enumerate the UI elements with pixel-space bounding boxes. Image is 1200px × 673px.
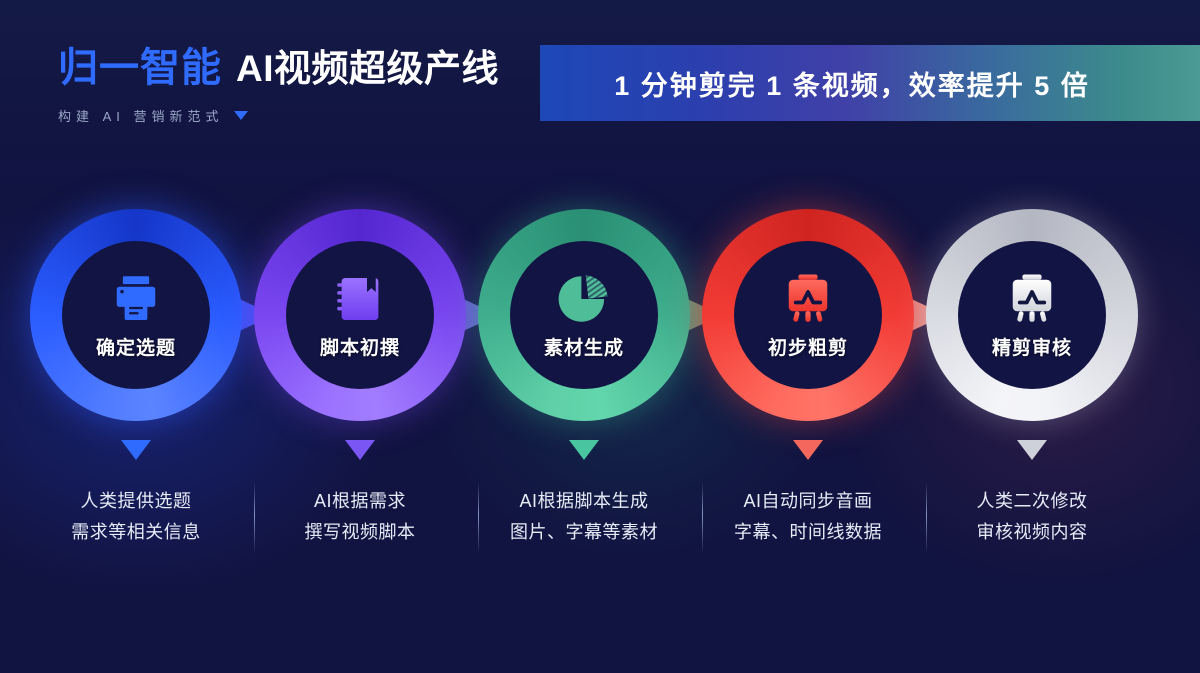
caption-1-arrow-icon <box>121 440 151 460</box>
step-4-content: 初步粗剪 <box>734 241 882 389</box>
caption-4: AI自动同步音画 字幕、时间线数据 <box>702 440 914 548</box>
step-2[interactable]: 脚本初撰 <box>254 209 466 421</box>
caption-4-line-2: 字幕、时间线数据 <box>734 517 882 548</box>
caption-2: AI根据需求 撰写视频脚本 <box>254 440 466 548</box>
step-4[interactable]: 初步粗剪 <box>702 209 914 421</box>
caption-5-arrow-icon <box>1017 440 1047 460</box>
pipeline: 确定选题 <box>0 205 1200 435</box>
step-circles: 确定选题 <box>0 205 1200 435</box>
subtitle: 构建 AI 营销新范式 <box>58 106 224 125</box>
caption-5-line-1: 人类二次修改 <box>977 486 1088 517</box>
presentation-board-icon <box>1004 271 1060 327</box>
step-5[interactable]: 精剪审核 <box>926 209 1138 421</box>
captions-row: 人类提供选题 需求等相关信息 AI根据需求 撰写视频脚本 AI根据脚本生成 图片… <box>0 440 1200 580</box>
step-5-content: 精剪审核 <box>958 241 1106 389</box>
pie-chart-icon <box>556 271 612 327</box>
infographic-canvas: 归一智能 AI视频超级产线 构建 AI 营销新范式 1 分钟剪完 1 条视频，效… <box>0 0 1200 673</box>
printer-icon <box>108 271 164 327</box>
caption-3: AI根据脚本生成 图片、字幕等素材 <box>478 440 690 548</box>
page-title: AI视频超级产线 <box>236 50 499 87</box>
headline-banner: 1 分钟剪完 1 条视频，效率提升 5 倍 <box>540 45 1200 121</box>
caption-4-line-1: AI自动同步音画 <box>743 486 872 517</box>
caption-3-line-2: 图片、字幕等素材 <box>510 517 658 548</box>
brand-name: 归一智能 <box>58 48 222 88</box>
step-4-label: 初步粗剪 <box>768 333 848 360</box>
caption-2-line-1: AI根据需求 <box>314 486 406 517</box>
caption-3-line-1: AI根据脚本生成 <box>519 486 648 517</box>
caption-1-line-1: 人类提供选题 <box>81 486 192 517</box>
step-1-label: 确定选题 <box>96 333 176 360</box>
step-1[interactable]: 确定选题 <box>30 209 242 421</box>
caption-4-arrow-icon <box>793 440 823 460</box>
caption-3-arrow-icon <box>569 440 599 460</box>
notebook-icon <box>332 271 388 327</box>
step-3-label: 素材生成 <box>544 333 624 360</box>
step-2-content: 脚本初撰 <box>286 241 434 389</box>
banner-text: 1 分钟剪完 1 条视频，效率提升 5 倍 <box>614 64 1126 103</box>
caption-5: 人类二次修改 审核视频内容 <box>926 440 1138 548</box>
caption-1-line-2: 需求等相关信息 <box>71 517 201 548</box>
step-3-content: 素材生成 <box>510 241 658 389</box>
caption-5-line-2: 审核视频内容 <box>977 517 1088 548</box>
caption-1: 人类提供选题 需求等相关信息 <box>30 440 242 548</box>
caret-down-icon <box>234 111 248 120</box>
step-5-label: 精剪审核 <box>992 333 1072 360</box>
caption-2-arrow-icon <box>345 440 375 460</box>
step-3[interactable]: 素材生成 <box>478 209 690 421</box>
caption-2-line-2: 撰写视频脚本 <box>305 517 416 548</box>
step-2-label: 脚本初撰 <box>320 333 400 360</box>
step-1-content: 确定选题 <box>62 241 210 389</box>
presentation-board-icon <box>780 271 836 327</box>
